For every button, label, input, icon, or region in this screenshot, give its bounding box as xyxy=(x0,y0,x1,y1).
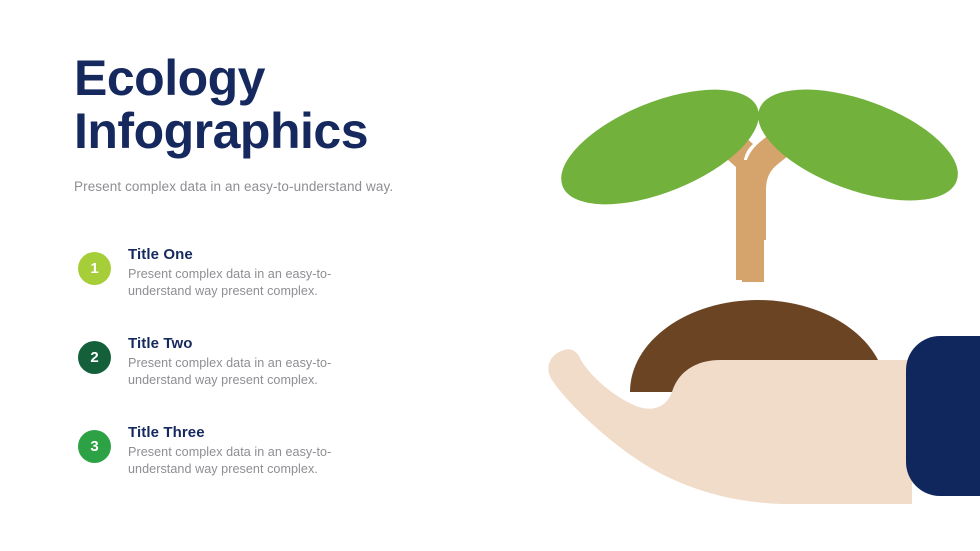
list-item-three[interactable]: 3 Title Three Present complex data in an… xyxy=(78,424,408,482)
item-title-1: Title One xyxy=(128,246,408,263)
hand-holding-sprout-illustration xyxy=(540,40,980,520)
item-title-3: Title Three xyxy=(128,424,408,441)
infographic-item-list: 1 Title One Present complex data in an e… xyxy=(78,246,408,482)
page-title: Ecology Infographics xyxy=(74,52,494,158)
right-leaf-icon xyxy=(744,67,972,223)
step-number-badge-1: 1 xyxy=(78,252,111,285)
step-number-badge-2: 2 xyxy=(78,341,111,374)
item-description-1: Present complex data in an easy-to-under… xyxy=(128,266,376,299)
list-item-one[interactable]: 1 Title One Present complex data in an e… xyxy=(78,246,408,304)
headline-block: Ecology Infographics Present complex dat… xyxy=(74,52,494,196)
sleeve-cuff-icon xyxy=(906,336,980,496)
slide-canvas: Ecology Infographics Present complex dat… xyxy=(0,0,980,551)
item-description-2: Present complex data in an easy-to-under… xyxy=(128,355,376,388)
item-description-3: Present complex data in an easy-to-under… xyxy=(128,444,376,477)
page-subtitle: Present complex data in an easy-to-under… xyxy=(74,178,494,196)
item-title-2: Title Two xyxy=(128,335,408,352)
list-item-two[interactable]: 2 Title Two Present complex data in an e… xyxy=(78,335,408,393)
open-hand-icon xyxy=(548,349,912,504)
step-number-badge-3: 3 xyxy=(78,430,111,463)
